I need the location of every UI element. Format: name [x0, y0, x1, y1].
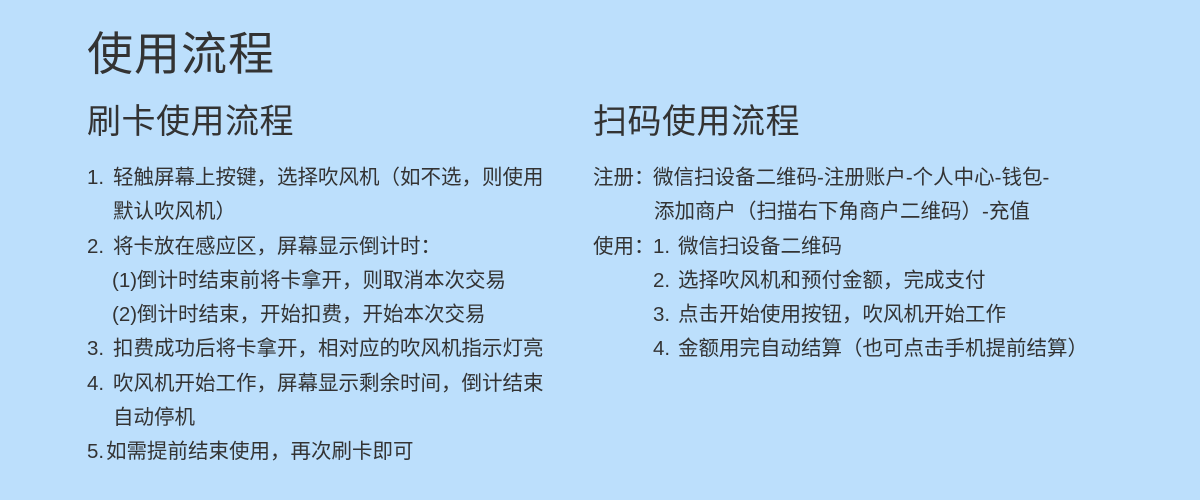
- list-item-text: 选择吹风机和预付金额，完成支付: [678, 264, 1200, 298]
- usage-body: 1. 微信扫设备二维码 2. 选择吹风机和预付金额，完成支付 3. 点击开始使用…: [653, 230, 1200, 367]
- list-item-marker: 3.: [653, 298, 678, 332]
- qr-flow-column: 扫码使用流程 注册： 微信扫设备二维码-注册账户-个人中心-钱包- 添加商户（扫…: [553, 100, 1200, 367]
- list-item-marker: 1.: [653, 230, 678, 264]
- list-item-text: 扣费成功后将卡拿开，相对应的吹风机指示灯亮: [113, 332, 553, 366]
- list-item-marker: 2.: [87, 230, 113, 264]
- list-item-marker: 5.: [87, 435, 106, 469]
- list-item: 1. 微信扫设备二维码: [653, 230, 1200, 264]
- list-item: 3. 扣费成功后将卡拿开，相对应的吹风机指示灯亮: [87, 332, 553, 366]
- card-flow-column: 刷卡使用流程 1. 轻触屏幕上按键，选择吹风机（如不选，则使用默认吹风机） 2.…: [0, 100, 553, 470]
- register-label: 注册：: [593, 161, 653, 195]
- usage-label: 使用：: [593, 230, 653, 264]
- list-sub-item: (2) 倒计时结束，开始扣费，开始本次交易: [87, 298, 553, 332]
- list-item-text: 吹风机开始工作，屏幕显示剩余时间，倒计结束自动停机: [113, 367, 553, 436]
- list-item-text: 点击开始使用按钮，吹风机开始工作: [678, 298, 1200, 332]
- usage-flow-page: 使用流程 刷卡使用流程 1. 轻触屏幕上按键，选择吹风机（如不选，则使用默认吹风…: [0, 0, 1200, 500]
- list-item: 4. 吹风机开始工作，屏幕显示剩余时间，倒计结束自动停机: [87, 367, 553, 436]
- list-item-text: 微信扫设备二维码: [678, 230, 1200, 264]
- list-sub-item-text: 倒计时结束前将卡拿开，则取消本次交易: [137, 264, 553, 298]
- list-item-marker: 2.: [653, 264, 678, 298]
- list-sub-item-text: 倒计时结束，开始扣费，开始本次交易: [137, 298, 553, 332]
- list-item-marker: 3.: [87, 332, 113, 366]
- list-item: 2. 将卡放在感应区，屏幕显示倒计时：: [87, 230, 553, 264]
- card-flow-list: 1. 轻触屏幕上按键，选择吹风机（如不选，则使用默认吹风机） 2. 将卡放在感应…: [87, 161, 553, 470]
- list-item-text: 轻触屏幕上按键，选择吹风机（如不选，则使用默认吹风机）: [113, 161, 553, 230]
- usage-group: 使用： 1. 微信扫设备二维码 2. 选择吹风机和预付金额，完成支付 3.: [593, 230, 1200, 367]
- page-title: 使用流程: [87, 26, 275, 82]
- list-item-marker: 4.: [87, 367, 113, 401]
- list-item-text: 金额用完自动结算（也可点击手机提前结算）: [678, 332, 1200, 366]
- list-item-marker: 1.: [87, 161, 113, 195]
- list-item-marker: 4.: [653, 332, 678, 366]
- list-item: 3. 点击开始使用按钮，吹风机开始工作: [653, 298, 1200, 332]
- list-item: 1. 轻触屏幕上按键，选择吹风机（如不选，则使用默认吹风机）: [87, 161, 553, 230]
- card-flow-heading: 刷卡使用流程: [87, 100, 553, 144]
- list-item: 2. 选择吹风机和预付金额，完成支付: [653, 264, 1200, 298]
- register-line-1: 微信扫设备二维码-注册账户-个人中心-钱包-: [653, 166, 1049, 189]
- list-item: 4. 金额用完自动结算（也可点击手机提前结算）: [653, 332, 1200, 366]
- list-item-text: 如需提前结束使用，再次刷卡即可: [106, 435, 553, 469]
- register-body: 微信扫设备二维码-注册账户-个人中心-钱包-: [653, 161, 1200, 195]
- register-group: 注册： 微信扫设备二维码-注册账户-个人中心-钱包-: [593, 161, 1200, 195]
- list-sub-item-marker: (2): [112, 298, 137, 332]
- columns-container: 刷卡使用流程 1. 轻触屏幕上按键，选择吹风机（如不选，则使用默认吹风机） 2.…: [0, 100, 1200, 470]
- qr-flow-heading: 扫码使用流程: [593, 100, 1200, 144]
- list-item: 5. 如需提前结束使用，再次刷卡即可: [87, 435, 553, 469]
- list-sub-item: (1) 倒计时结束前将卡拿开，则取消本次交易: [87, 264, 553, 298]
- usage-list: 1. 微信扫设备二维码 2. 选择吹风机和预付金额，完成支付 3. 点击开始使用…: [653, 230, 1200, 367]
- list-sub-item-marker: (1): [112, 264, 137, 298]
- list-item-text: 将卡放在感应区，屏幕显示倒计时：: [113, 230, 553, 264]
- register-line-2: 添加商户（扫描右下角商户二维码）-充值: [593, 195, 1200, 229]
